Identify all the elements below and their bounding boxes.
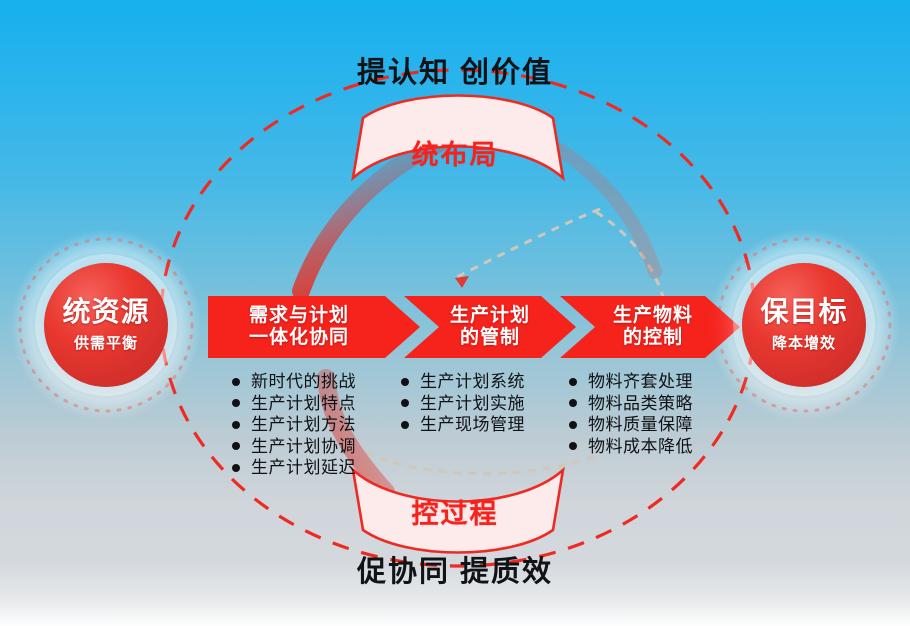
stage-1-bullet-list: 新时代的挑战 生产计划特点 生产计划方法 生产计划协调 生产计划延迟 — [232, 371, 356, 479]
list-item-label: 生产现场管理 — [420, 414, 525, 436]
left-circle-subtitle: 供需平衡 — [74, 332, 138, 353]
list-item: 新时代的挑战 — [232, 371, 356, 393]
list-item-label: 新时代的挑战 — [251, 371, 356, 393]
list-item: 生产计划协调 — [232, 436, 356, 458]
list-item: 生产计划系统 — [401, 371, 525, 393]
list-item-label: 生产计划协调 — [251, 436, 356, 458]
bullet-dot-icon — [569, 378, 577, 386]
right-circle-title: 保目标 — [760, 297, 847, 326]
list-item-label: 生产计划特点 — [251, 393, 356, 415]
right-circle: 保目标 降本增效 — [742, 263, 866, 387]
bullet-dot-icon — [232, 464, 240, 472]
stage-arrow-3-line2: 的控制 — [613, 327, 693, 349]
page-title-bottom: 促协同 提质效 — [0, 548, 910, 590]
list-item-label: 物料品类策略 — [588, 393, 693, 415]
bullet-dot-icon — [401, 421, 409, 429]
list-item-label: 物料质量保障 — [588, 414, 693, 436]
list-item-label: 生产计划方法 — [251, 414, 356, 436]
bullet-dot-icon — [232, 421, 240, 429]
right-circle-subtitle: 降本增效 — [772, 332, 836, 353]
bullet-dot-icon — [401, 378, 409, 386]
list-item-label: 生产计划延迟 — [251, 457, 356, 479]
list-item: 物料齐套处理 — [569, 371, 693, 393]
list-item: 生产计划实施 — [401, 393, 525, 415]
list-item-label: 生产计划实施 — [420, 393, 525, 415]
list-item: 物料成本降低 — [569, 436, 693, 458]
stage-arrow-1: 需求与计划 一体化协同 — [208, 296, 420, 358]
left-circle-title: 统资源 — [62, 297, 149, 326]
stage-arrow-2-line1: 生产计划 — [450, 305, 530, 327]
diagram-canvas: 提认知 创价值 促协同 提质效 统布局 控过程 统资源 供需平衡 保目标 降本增… — [0, 0, 910, 626]
stage-arrow-1-line2: 一体化协同 — [249, 327, 349, 349]
list-item: 生产计划特点 — [232, 393, 356, 415]
bullet-dot-icon — [569, 421, 577, 429]
bullet-dot-icon — [232, 378, 240, 386]
inner-dashed-arc-upper — [455, 209, 600, 278]
stage-arrow-1-line1: 需求与计划 — [249, 305, 349, 327]
list-item-label: 生产计划系统 — [420, 371, 525, 393]
stage-3-bullet-list: 物料齐套处理 物料品类策略 物料质量保障 物料成本降低 — [569, 371, 693, 457]
bullet-dot-icon — [232, 399, 240, 407]
list-item: 物料品类策略 — [569, 393, 693, 415]
list-item: 生产计划延迟 — [232, 457, 356, 479]
list-item-label: 物料齐套处理 — [588, 371, 693, 393]
bullet-dot-icon — [232, 442, 240, 450]
list-item: 生产计划方法 — [232, 414, 356, 436]
banner-bottom-label: 控过程 — [355, 492, 555, 531]
left-circle: 统资源 供需平衡 — [44, 263, 168, 387]
gradient-arc-upper-right — [560, 150, 655, 272]
bullet-dot-icon — [401, 399, 409, 407]
stage-2-bullet-list: 生产计划系统 生产计划实施 生产现场管理 — [401, 371, 525, 436]
stage-arrow-3-line1: 生产物料 — [613, 305, 693, 327]
page-title-top: 提认知 创价值 — [0, 49, 910, 91]
inner-arc-arrowhead — [455, 276, 469, 288]
bullet-dot-icon — [569, 442, 577, 450]
list-item: 物料质量保障 — [569, 414, 693, 436]
bullet-dot-icon — [569, 399, 577, 407]
list-item-label: 物料成本降低 — [588, 436, 693, 458]
list-item: 生产现场管理 — [401, 414, 525, 436]
stage-arrow-2-line2: 的管制 — [450, 327, 530, 349]
banner-top-label: 统布局 — [355, 133, 555, 172]
